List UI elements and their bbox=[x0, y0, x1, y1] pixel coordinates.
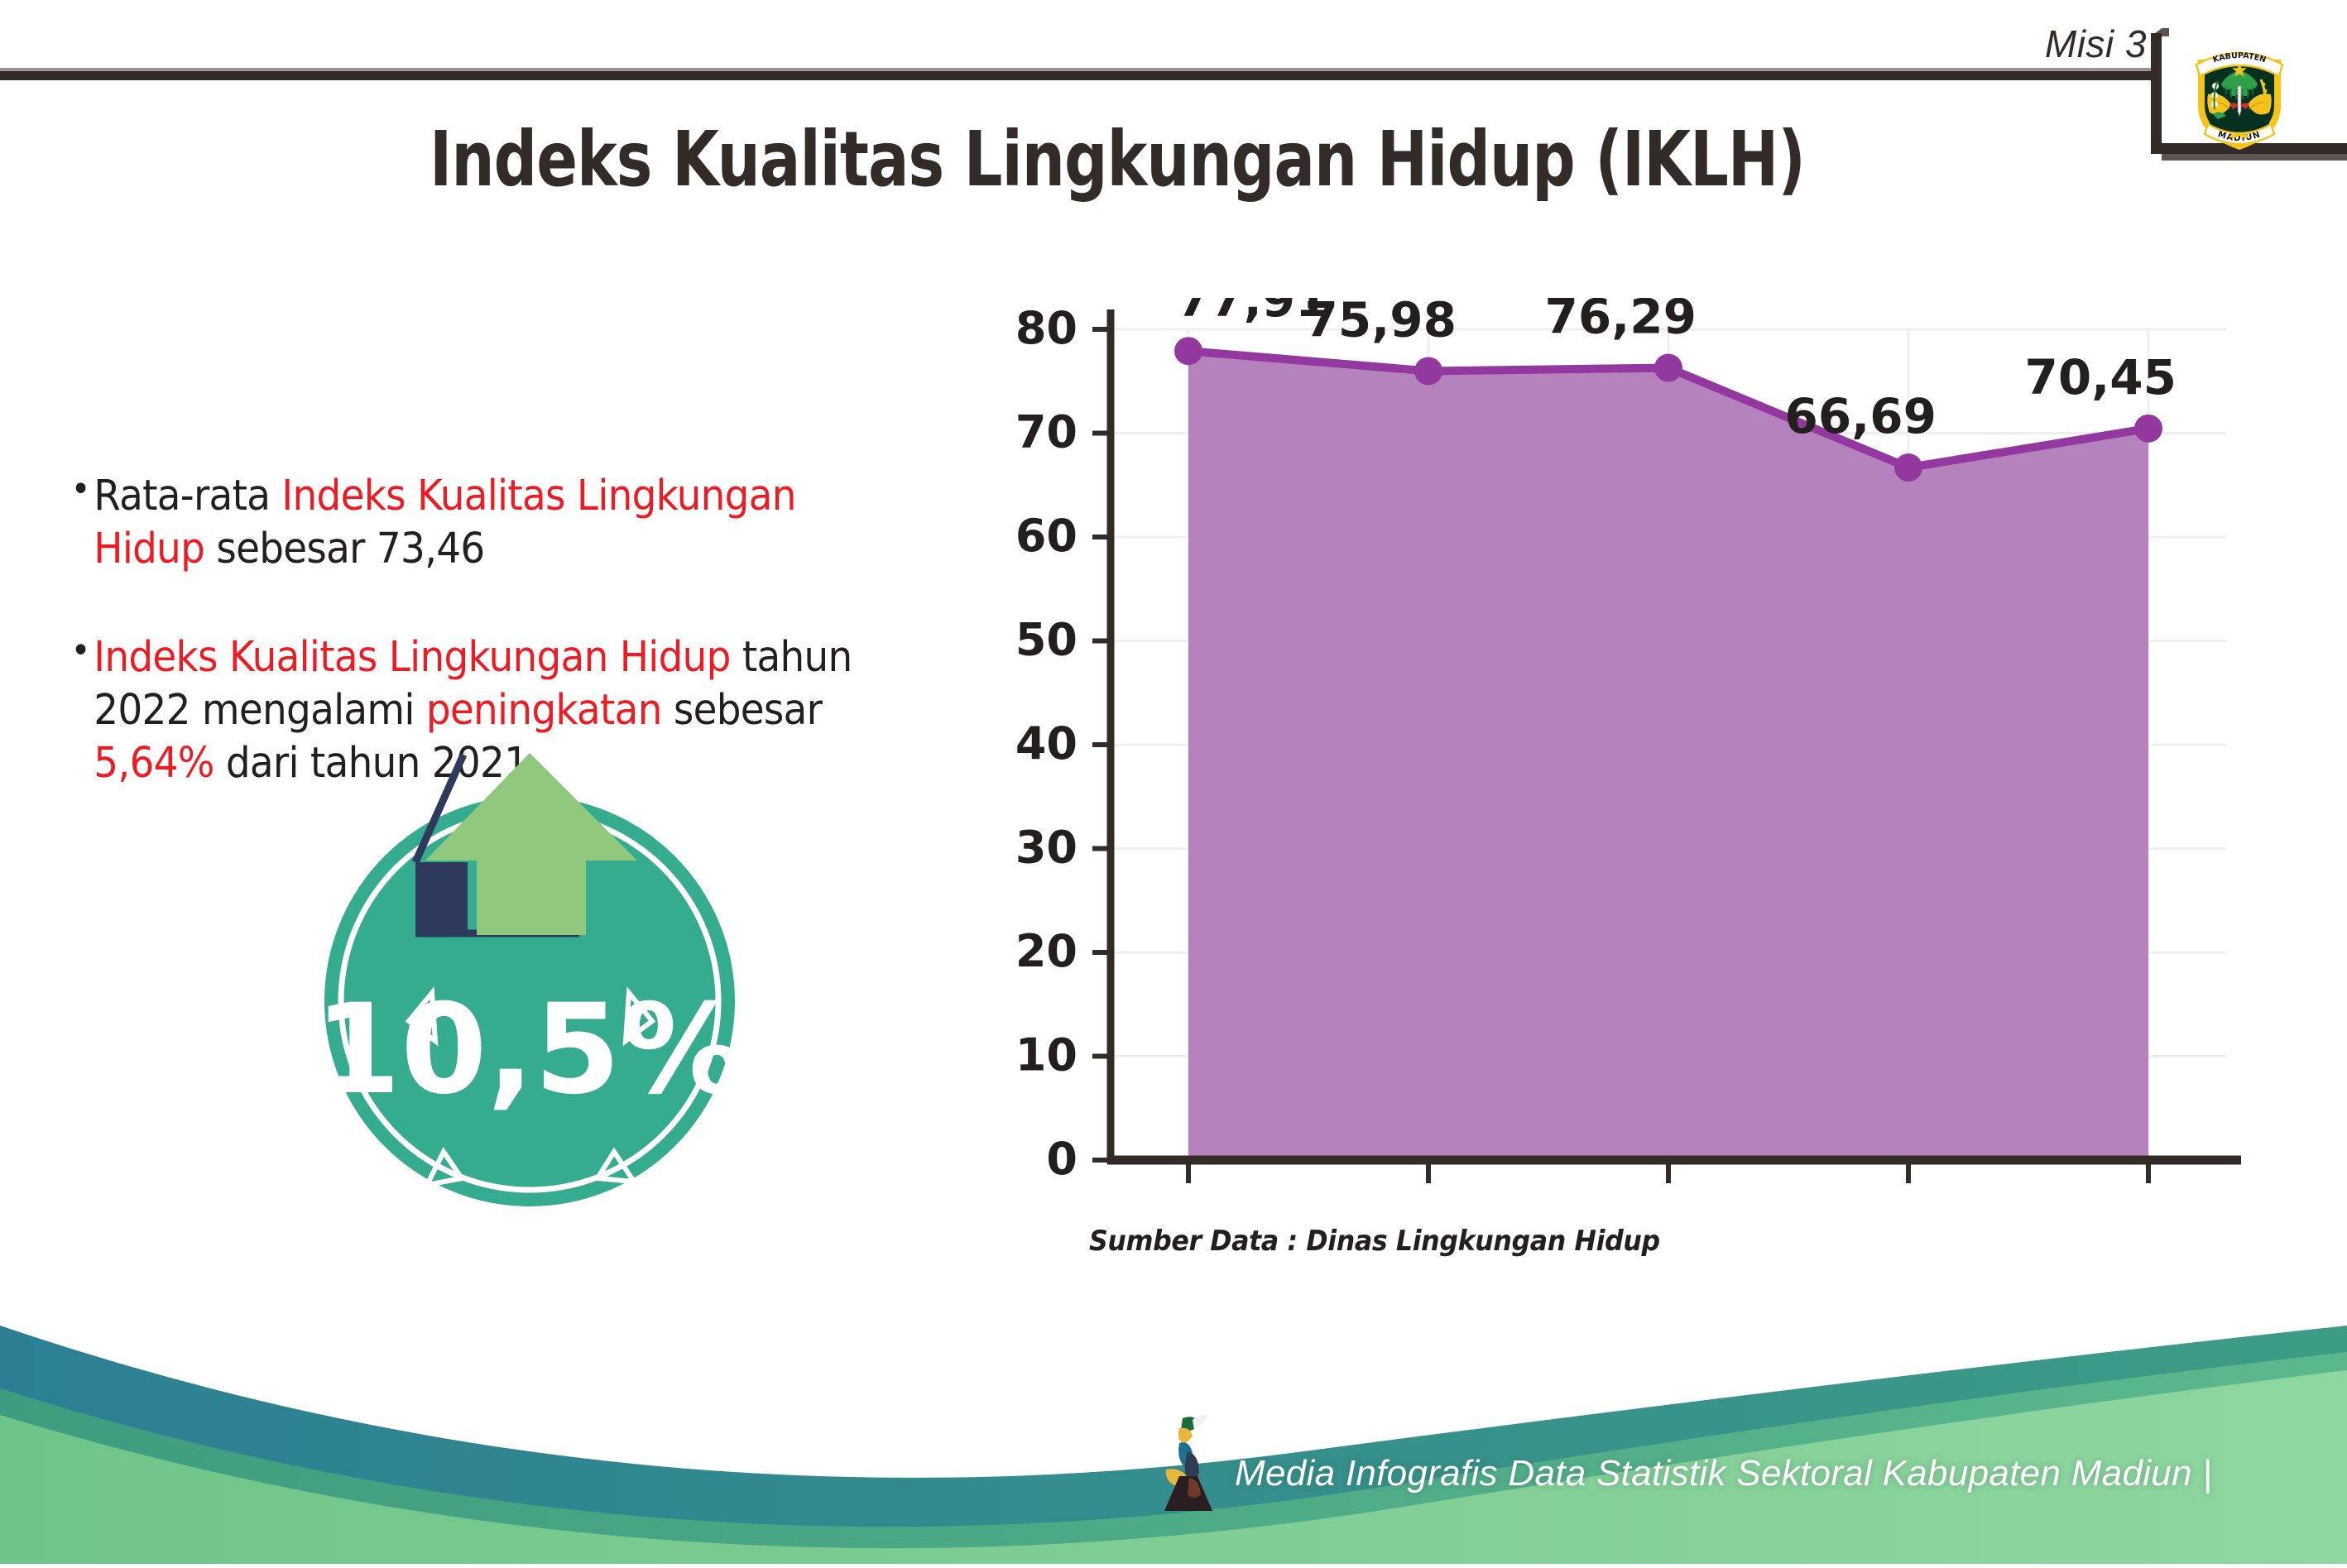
data-point-2019 bbox=[1414, 357, 1442, 385]
data-point-2022 bbox=[2134, 415, 2162, 443]
increase-badge: 10,5% bbox=[323, 745, 737, 1208]
data-label-2021: 66,69 bbox=[1785, 388, 1937, 444]
data-point-2021 bbox=[1894, 453, 1922, 482]
data-point-2018 bbox=[1174, 337, 1202, 365]
source-note: Sumber Data : Dinas Lingkungan Hidup bbox=[1089, 1225, 1660, 1258]
bullet-1-segment-4: 5,64% bbox=[94, 739, 214, 788]
bullet-1-segment-0: Indeks Kualitas Lingkungan Hidup bbox=[94, 633, 730, 682]
y-tick-label-10: 10 bbox=[1015, 1029, 1078, 1081]
bullet-1-segment-3: sebesar bbox=[662, 686, 822, 735]
y-tick-label-40: 40 bbox=[1015, 717, 1078, 770]
list-item: Rata-rata Indeks Kualitas Lingkungan Hid… bbox=[68, 470, 852, 577]
y-tick-label-50: 50 bbox=[1015, 614, 1078, 666]
bullet-0-segment-2: sebesar 73,46 bbox=[204, 525, 484, 573]
y-tick-label-20: 20 bbox=[1015, 925, 1078, 977]
data-label-2022: 70,45 bbox=[2025, 349, 2177, 405]
statistics-figure-logo bbox=[1154, 1408, 1231, 1514]
page-title: Indeks Kualitas Lingkungan Hidup (IKLH) bbox=[67, 116, 2167, 204]
bullet-0-segment-0: Rata-rata bbox=[94, 472, 281, 520]
mission-label: Misi 3 bbox=[2045, 22, 2147, 66]
data-label-2020: 76,29 bbox=[1545, 298, 1697, 345]
header-rule bbox=[0, 71, 2160, 80]
y-tick-label-60: 60 bbox=[1015, 510, 1078, 562]
y-tick-label-0: 0 bbox=[1046, 1133, 1078, 1183]
data-label-2019: 75,98 bbox=[1305, 298, 1457, 348]
kabupaten-madiun-crest-logo: KABUPATEN MADIUN bbox=[2190, 43, 2289, 152]
footer-text: Media Infografis Data Statistik Sektoral… bbox=[1235, 1453, 2212, 1494]
bullet-1-segment-2: peningkatan bbox=[426, 686, 662, 735]
header-frame-bottom-shadow bbox=[2162, 154, 2347, 161]
area-fill bbox=[1188, 351, 2148, 1160]
iklh-area-chart: 010203040506070802018201920202021202277,… bbox=[985, 298, 2243, 1183]
y-tick-label-70: 70 bbox=[1015, 406, 1078, 458]
y-tick-label-30: 30 bbox=[1015, 822, 1078, 874]
y-tick-label-80: 80 bbox=[1015, 302, 1078, 354]
badge-value: 10,5% bbox=[323, 978, 737, 1122]
data-point-2020 bbox=[1654, 354, 1682, 382]
